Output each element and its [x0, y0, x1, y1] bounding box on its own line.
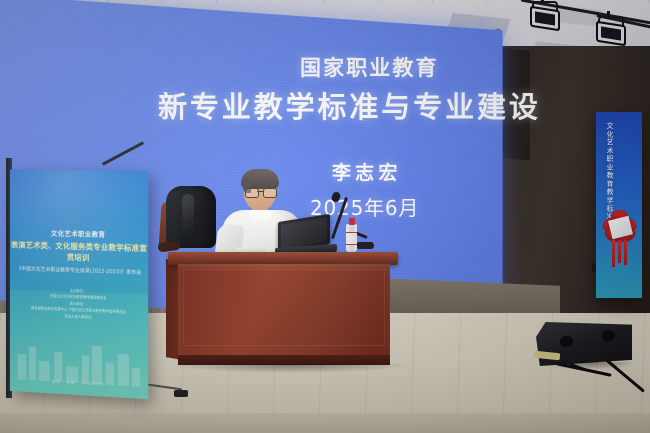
banner-line-2: 表演艺术类、文化服务类专业教学标准宣贯培训	[10, 239, 148, 265]
vertical-wall-banner: 文化艺术职业教育教学标准	[596, 112, 642, 298]
vertical-banner-text: 文化艺术职业教育教学标准	[605, 122, 615, 221]
standing-roll-up-banner: 文化艺术职业教育 表演艺术类、文化服务类专业教学标准宣贯培训 《中国文化艺术职业…	[10, 169, 148, 399]
stage-monitor-speaker	[536, 318, 640, 372]
banner-text-block: 文化艺术职业教育 表演艺术类、文化服务类专业教学标准宣贯培训 《中国文化艺术职业…	[10, 226, 148, 323]
laptop-computer	[278, 218, 336, 254]
slide-title-line1: 国家职业教育	[300, 52, 439, 82]
monitor-shadow	[538, 362, 638, 370]
bottle-label	[346, 232, 357, 245]
lecture-hall-photo: 国家职业教育 新专业教学标准与专业建设 李志宏 2025年6月 文化艺术职业教育…	[0, 0, 650, 433]
microphone-capsule	[331, 191, 342, 203]
slide-title-line2: 新专业教学标准与专业建设	[158, 84, 541, 126]
desk-floor-shadow	[172, 364, 408, 373]
stage-front-edge	[0, 413, 650, 433]
microphone-base	[356, 242, 374, 249]
floor-plug	[174, 390, 188, 397]
chair-highlight	[182, 194, 194, 234]
bottle-cap	[349, 218, 355, 225]
slide-presenter-name: 李志宏	[332, 158, 402, 185]
banner-line-3: 《中国文化艺术职业教育专业目录(2022-2023)》发布会	[10, 265, 148, 277]
chair-armrest	[158, 241, 181, 252]
conference-desk	[172, 252, 394, 370]
water-bottle	[346, 218, 357, 252]
red-ribbon-rosette-icon	[600, 210, 640, 268]
chair-backrest	[166, 186, 216, 248]
eyeglasses-icon	[244, 188, 277, 196]
person-hair	[241, 169, 279, 189]
banner-organizers: 主办单位： 全国文化艺术职业教育教学指导委员会 承办单位： 教育部职业教育发展中…	[10, 286, 148, 324]
desk-front-panel	[178, 264, 390, 356]
banner-line-1: 文化艺术职业教育	[10, 226, 148, 239]
